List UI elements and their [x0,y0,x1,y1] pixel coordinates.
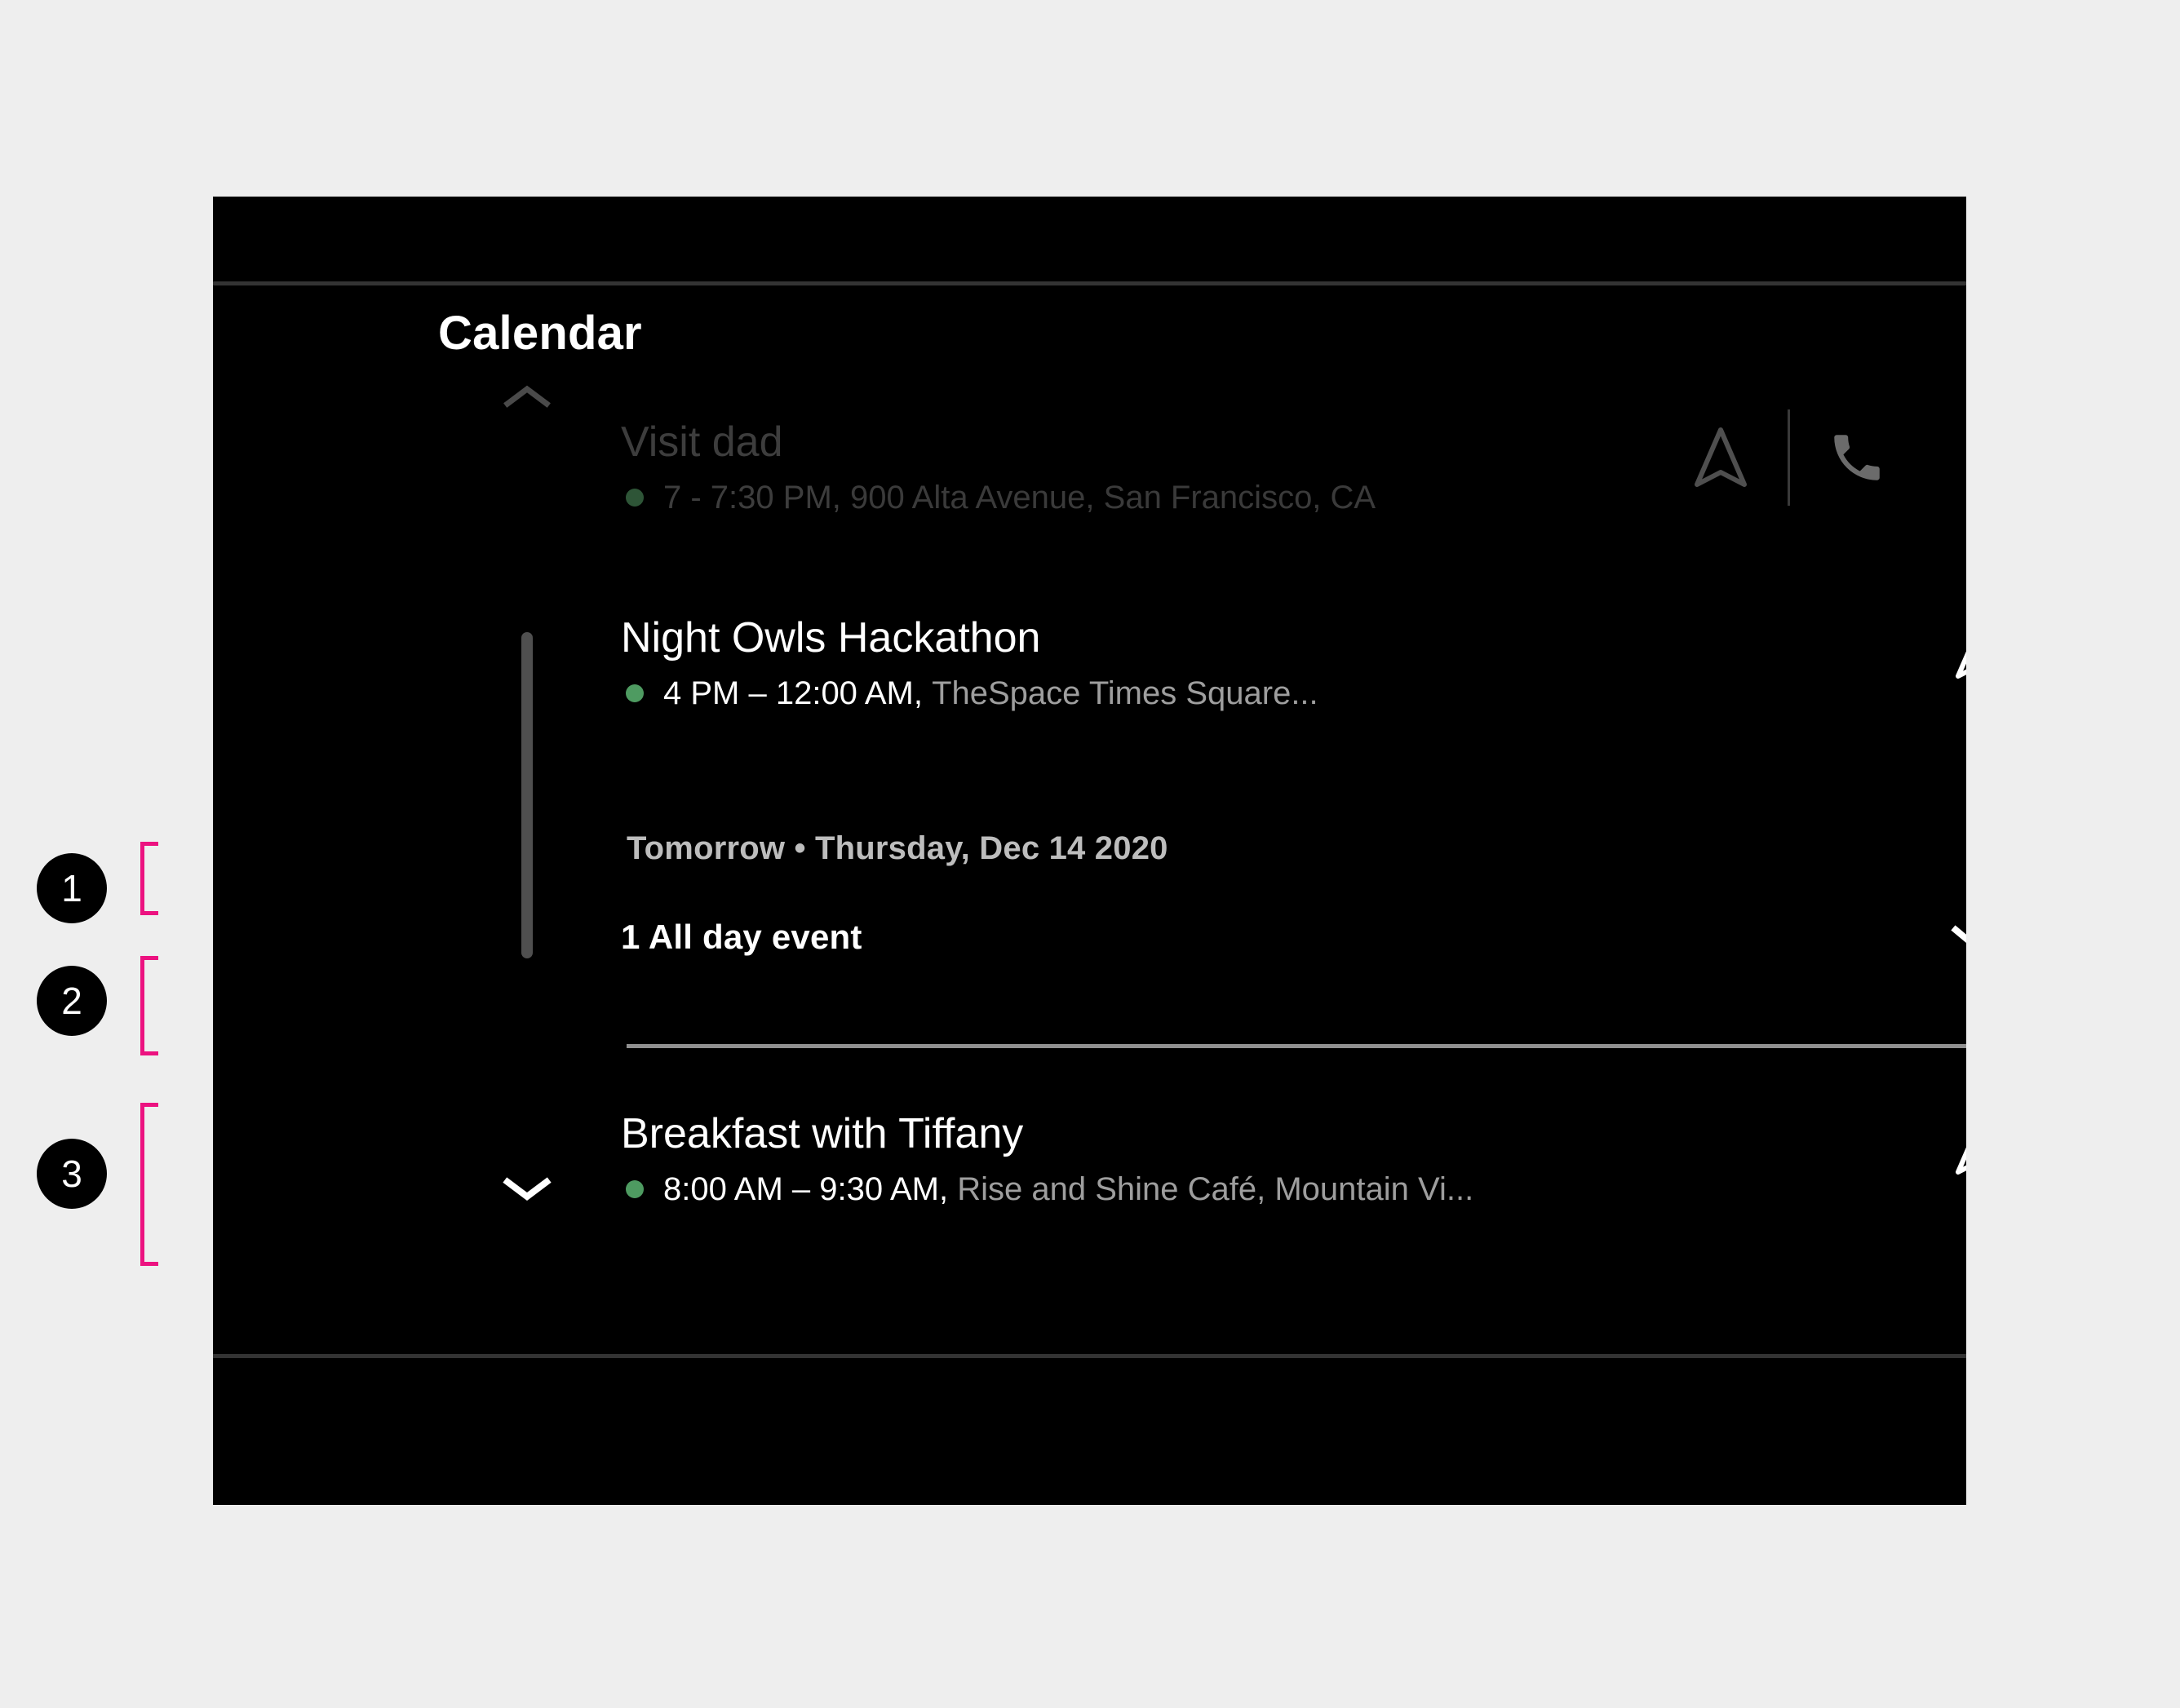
event-time: 4 PM – 12:00 AM, [663,675,923,711]
event-subtitle: 4 PM – 12:00 AM, TheSpace Times Square..… [621,675,1966,711]
calendar-color-dot [626,489,644,507]
annotation-bracket-3 [140,1103,158,1266]
calendar-color-dot [626,1180,644,1198]
action-divider [1788,409,1790,506]
chevron-down-icon[interactable] [500,1170,554,1206]
navigate-icon[interactable] [1943,1106,1966,1184]
event-location: 900 Alta Avenue, San Francisco, CA [850,480,1376,515]
chevron-down-icon[interactable] [1951,921,1966,954]
calendar-content: Calendar Visit dad 7 - 7:30 PM, [213,285,1966,1354]
panel-bottom-strip [213,1358,1966,1505]
annotation-bracket-2 [140,956,158,1055]
event-actions [1943,610,1966,688]
annotation-bracket-1 [140,842,158,915]
event-time: 8:00 AM – 9:30 AM, [663,1171,948,1207]
event-actions [1943,1106,1966,1184]
annotation-marker-1: 1 [37,853,107,923]
scrollbar[interactable] [490,379,564,1203]
all-day-label: 1 All day event [621,918,862,957]
page-title: Calendar [438,306,642,361]
event-row-visit-dad[interactable]: Visit dad 7 - 7:30 PM, 900 Alta Avenue, … [621,419,1966,515]
section-divider [627,1044,1966,1048]
scrollbar-thumb[interactable] [521,632,533,958]
annotation-marker-2: 2 [37,966,107,1036]
event-location: TheSpace Times Square... [932,675,1318,711]
calendar-color-dot [626,684,644,702]
date-header: Tomorrow • Thursday, Dec 14 2020 [627,830,1168,867]
event-time: 7 - 7:30 PM, [663,480,841,515]
call-icon[interactable] [1818,418,1896,497]
event-row-breakfast-with-tiffany[interactable]: Breakfast with Tiffany 8:00 AM – 9:30 AM… [621,1111,1966,1207]
event-location: Rise and Shine Café, Mountain Vi... [957,1171,1473,1207]
calendar-app-panel: Calendar Visit dad 7 - 7:30 PM, [213,197,1966,1505]
event-row-night-owls-hackathon[interactable]: Night Owls Hackathon 4 PM – 12:00 AM, Th… [621,615,1966,711]
event-title: Night Owls Hackathon [621,615,1966,661]
chevron-up-icon[interactable] [500,379,554,415]
navigate-icon[interactable] [1682,418,1760,497]
navigate-icon[interactable] [1943,610,1966,688]
annotation-marker-3: 3 [37,1139,107,1209]
annotation-gutter: 1 2 3 [0,0,213,1708]
all-day-events-toggle[interactable]: 1 All day event [621,918,1966,957]
event-title: Breakfast with Tiffany [621,1111,1966,1157]
event-actions [1682,409,1896,506]
event-subtitle: 8:00 AM – 9:30 AM, Rise and Shine Café, … [621,1171,1966,1207]
panel-top-strip [213,197,1966,281]
